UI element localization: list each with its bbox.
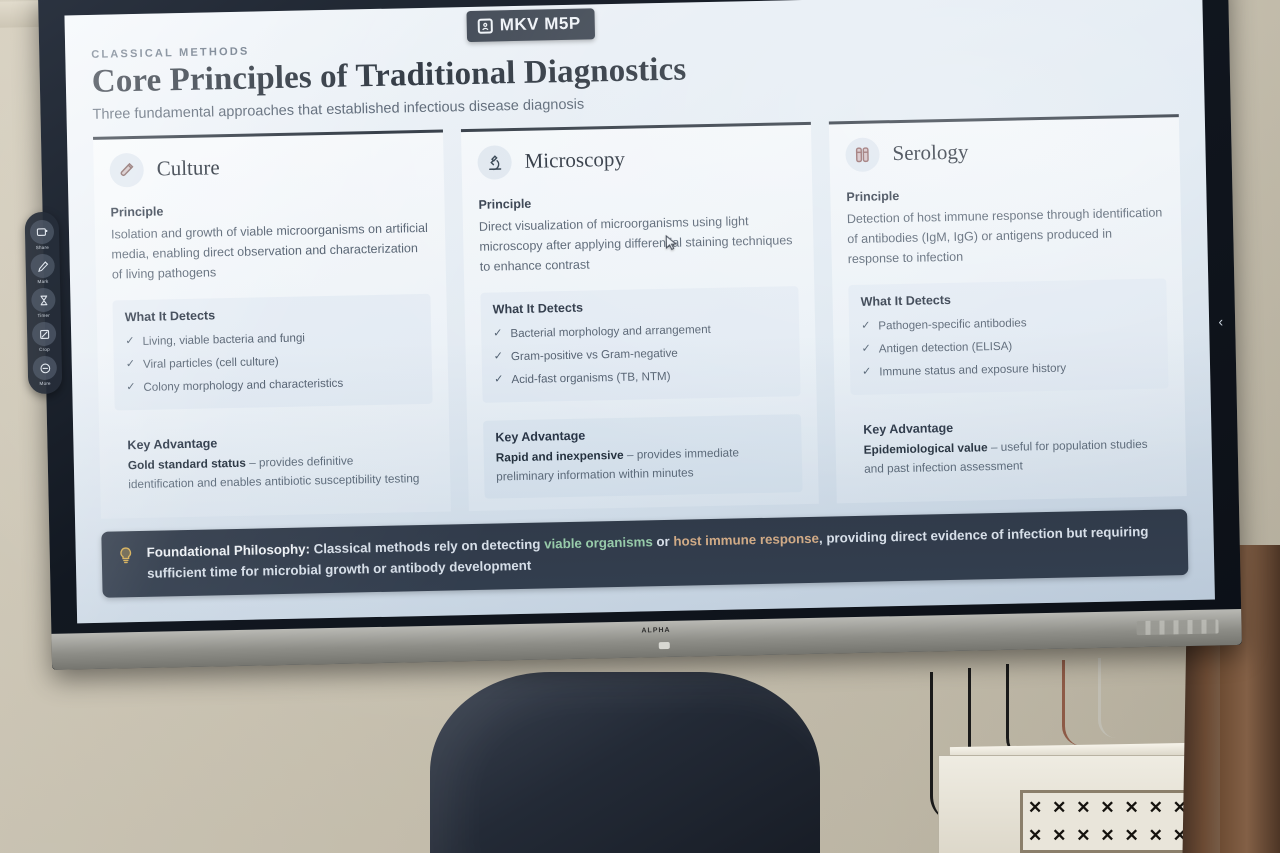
footer-highlight-viable-organisms: viable organisms	[544, 534, 653, 551]
advantage-panel: Key Advantage Epidemiological value – us…	[851, 407, 1171, 491]
grille-mark: ✕	[1149, 799, 1163, 816]
toolbar-item-label: Crop	[39, 347, 50, 352]
toolbar-item-timer[interactable]: Timer	[31, 288, 56, 318]
advantage-text: Gold standard status – provides definiti…	[128, 450, 423, 494]
lightbulb-icon	[118, 546, 134, 567]
floating-toolbar[interactable]: Share Mark Timer	[25, 212, 63, 395]
advantage-panel: Key Advantage Rapid and inexpensive – pr…	[483, 414, 803, 498]
display-brand-mark: ALPHA	[641, 627, 670, 635]
list-item-text: Bacterial morphology and arrangement	[510, 319, 711, 346]
grille-mark: ✕	[1100, 799, 1114, 816]
device-badge-label: MKV M5P	[500, 14, 581, 36]
device-badge: MKV M5P	[466, 8, 595, 42]
principle-label: Principle	[110, 199, 428, 220]
list-item: ✓Acid-fast organisms (TB, NTM)	[494, 363, 788, 392]
footer-part1: Classical methods rely on detecting	[310, 536, 545, 556]
list-item-text: Antigen detection (ELISA)	[879, 336, 1013, 361]
check-icon: ✓	[861, 339, 871, 361]
grille-mark: ✕	[1028, 827, 1042, 844]
grille-mark: ✕	[1052, 799, 1066, 816]
toolbar-item-label: More	[39, 381, 50, 386]
advantage-label: Key Advantage	[127, 432, 421, 452]
method-columns: Culture Principle Isolation and growth o…	[93, 114, 1187, 519]
principle-label: Principle	[478, 191, 796, 212]
advantage-panel: Key Advantage Gold standard status – pro…	[115, 422, 435, 506]
toolbar-item-mark[interactable]: Mark	[30, 254, 55, 284]
card-title: Microscopy	[524, 147, 625, 174]
toolbar-item-label: Share	[36, 245, 49, 250]
method-card-microscopy[interactable]: Microscopy Principle Direct visualizatio…	[461, 121, 819, 511]
present-screen-icon[interactable]	[30, 220, 54, 244]
app-square-icon	[478, 18, 493, 33]
card-title: Serology	[892, 140, 968, 167]
check-icon: ✓	[493, 324, 503, 346]
toolbar-item-label: Timer	[37, 313, 50, 318]
list-item-text: Acid-fast organisms (TB, NTM)	[511, 365, 671, 391]
card-header: Culture	[109, 147, 428, 188]
advantage-label: Key Advantage	[863, 417, 1157, 437]
card-title: Culture	[156, 155, 220, 181]
grille-mark: ✕	[1100, 827, 1114, 844]
check-icon: ✓	[862, 361, 872, 383]
ir-sensor	[659, 642, 670, 649]
list-item: ✓Colony morphology and characteristics	[126, 371, 420, 400]
vials-icon	[845, 137, 880, 172]
grille-mark: ✕	[1076, 827, 1090, 844]
photo-scene: ✕ ✕ ✕ ✕ ✕ ✕ ✕ ✕ ✕ ✕ ✕ ✕ ✕ ✕ MK	[0, 0, 1280, 853]
toolbar-item-crop[interactable]: Crop	[32, 322, 57, 352]
detects-list: ✓Pathogen-specific antibodies ✓Antigen d…	[861, 310, 1156, 384]
footer-lead: Foundational Philosophy:	[147, 541, 311, 559]
grille-mark: ✕	[1125, 827, 1139, 844]
test-tube-icon	[109, 152, 144, 187]
list-item-text: Colony morphology and characteristics	[143, 372, 343, 399]
advantage-label: Key Advantage	[495, 425, 789, 445]
grille-mark: ✕	[1052, 827, 1066, 844]
office-chair	[430, 672, 820, 853]
check-icon: ✓	[494, 369, 504, 391]
toolbar-item-more[interactable]: More	[33, 356, 58, 386]
list-item: ✓Immune status and exposure history	[862, 355, 1156, 384]
cable-4	[1062, 660, 1082, 746]
list-item-text: Viral particles (cell culture)	[143, 351, 279, 376]
footer-highlight-host-immune-response: host immune response	[673, 531, 819, 549]
toolbar-item-share[interactable]: Share	[30, 220, 55, 250]
slide-canvas: MKV M5P CLASSICAL METHODS Core Principle…	[64, 0, 1214, 623]
crop-icon[interactable]	[32, 322, 56, 346]
advantage-lead: Rapid and inexpensive	[496, 448, 624, 465]
principle-text: Isolation and growth of viable microorga…	[111, 218, 430, 285]
list-item-text: Immune status and exposure history	[879, 357, 1066, 384]
card-header: Serology	[845, 131, 1164, 172]
mouse-cursor	[665, 235, 677, 251]
chevron-left-icon[interactable]: ‹	[1218, 314, 1223, 328]
advantage-text: Rapid and inexpensive – provides immedia…	[496, 443, 791, 487]
list-item-text: Living, viable bacteria and fungi	[142, 328, 305, 354]
display-ports	[1136, 619, 1218, 635]
grille-mark: ✕	[1125, 799, 1139, 816]
display-screen[interactable]: MKV M5P CLASSICAL METHODS Core Principle…	[64, 0, 1214, 623]
detects-list: ✓Bacterial morphology and arrangement ✓G…	[493, 318, 788, 392]
detects-list: ✓Living, viable bacteria and fungi ✓Vira…	[125, 325, 420, 399]
microscope-icon	[477, 145, 512, 180]
check-icon: ✓	[126, 354, 136, 376]
detects-panel: What It Detects ✓Bacterial morphology an…	[480, 287, 800, 403]
detects-panel: What It Detects ✓Pathogen-specific antib…	[848, 279, 1168, 395]
detects-label: What It Detects	[493, 297, 787, 317]
method-card-culture[interactable]: Culture Principle Isolation and growth o…	[93, 129, 451, 519]
cable-5	[1098, 658, 1116, 738]
advantage-lead: Epidemiological value	[864, 440, 988, 457]
principle-text: Detection of host immune response throug…	[847, 202, 1166, 269]
grille-mark: ✕	[1028, 799, 1042, 816]
principle-text: Direct visualization of microorganisms u…	[479, 210, 798, 277]
toolbar-item-label: Mark	[37, 279, 48, 284]
check-icon: ✓	[125, 331, 135, 353]
pen-icon[interactable]	[30, 254, 54, 278]
advantage-text: Epidemiological value – useful for popul…	[864, 435, 1159, 479]
grille-mark: ✕	[1076, 799, 1090, 816]
foundational-philosophy-banner: Foundational Philosophy: Classical metho…	[101, 509, 1188, 598]
zoom-out-icon[interactable]	[33, 356, 57, 380]
detects-label: What It Detects	[860, 289, 1154, 309]
principle-label: Principle	[846, 183, 1164, 204]
advantage-lead: Gold standard status	[128, 456, 246, 472]
detects-panel: What It Detects ✓Living, viable bacteria…	[112, 294, 432, 410]
check-icon: ✓	[493, 346, 503, 368]
card-header: Microscopy	[477, 139, 796, 180]
list-item-text: Pathogen-specific antibodies	[878, 313, 1027, 339]
check-icon: ✓	[126, 377, 136, 399]
timer-icon[interactable]	[31, 288, 55, 312]
foundational-philosophy-text: Foundational Philosophy: Classical metho…	[147, 521, 1171, 584]
wall-display: MKV M5P CLASSICAL METHODS Core Principle…	[38, 0, 1242, 670]
method-card-serology[interactable]: Serology Principle Detection of host imm…	[829, 114, 1187, 504]
grille-vent: ✕ ✕ ✕ ✕ ✕ ✕ ✕ ✕ ✕ ✕ ✕ ✕ ✕ ✕	[1020, 790, 1195, 853]
check-icon: ✓	[861, 316, 871, 338]
grille-mark: ✕	[1149, 827, 1163, 844]
detects-label: What It Detects	[125, 304, 419, 324]
footer-part2: or	[653, 534, 674, 549]
